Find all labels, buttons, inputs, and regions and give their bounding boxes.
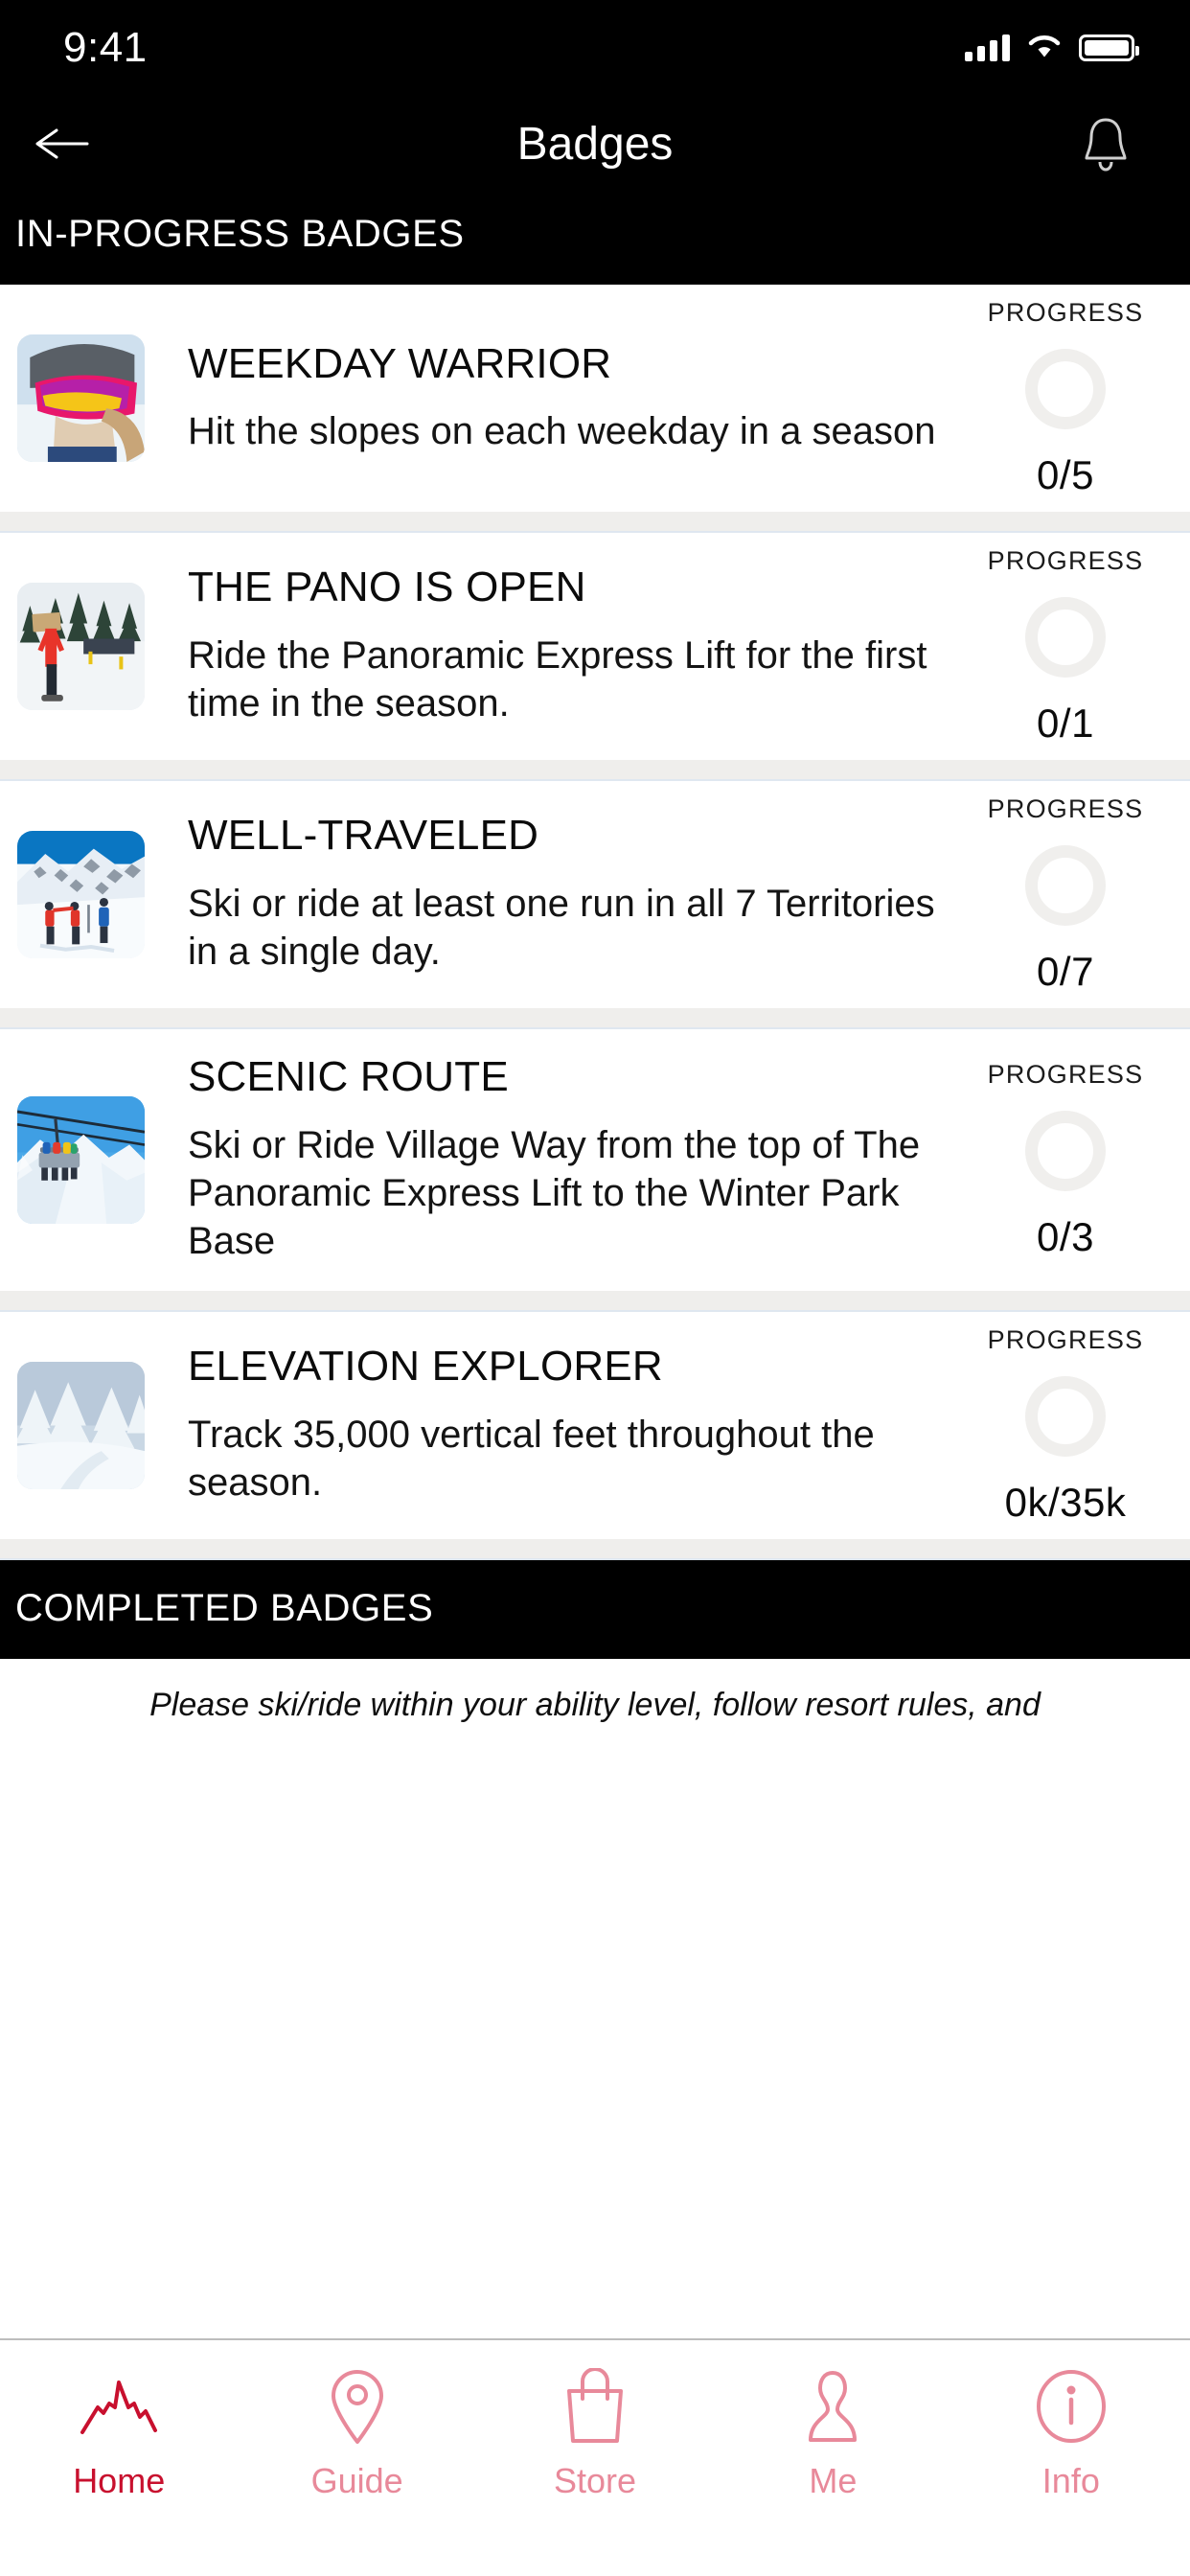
card-separator: [0, 512, 1190, 533]
badge-card[interactable]: WEEKDAY WARRIOR Hit the slopes on each w…: [0, 285, 1190, 512]
mountain-icon: [75, 2365, 163, 2448]
badge-list: WEEKDAY WARRIOR Hit the slopes on each w…: [0, 285, 1190, 1560]
battery-icon: [1079, 34, 1134, 61]
progress-label: PROGRESS: [988, 1060, 1144, 1090]
tab-label: Info: [1042, 2461, 1100, 2501]
navigation-bar: Badges: [0, 96, 1190, 192]
page-title: Badges: [0, 118, 1190, 171]
arrow-left-icon: [32, 121, 93, 167]
card-separator: [0, 1539, 1190, 1560]
status-indicators: [965, 33, 1134, 64]
progress-ring: [1025, 349, 1106, 429]
section-header-completed: COMPLETED BADGES: [0, 1560, 1190, 1659]
badge-text: WELL-TRAVELED Ski or ride at least one r…: [171, 781, 949, 1008]
badge-description: Hit the slopes on each weekday in a seas…: [188, 407, 937, 455]
badge-progress: PROGRESS 0/7: [949, 781, 1190, 1008]
chairlift-photo: [17, 1096, 145, 1224]
status-bar: 9:41: [0, 0, 1190, 96]
card-separator: [0, 1291, 1190, 1312]
tab-label: Home: [73, 2461, 165, 2501]
tab-me[interactable]: Me: [714, 2365, 951, 2501]
tab-info[interactable]: Info: [952, 2365, 1190, 2501]
badge-card[interactable]: THE PANO IS OPEN Ride the Panoramic Expr…: [0, 533, 1190, 760]
badge-card[interactable]: SCENIC ROUTE Ski or Ride Village Way fro…: [0, 1029, 1190, 1291]
disclaimer-text: Please ski/ride within your ability leve…: [0, 1659, 1190, 1726]
badge-description: Ski or Ride Village Way from the top of …: [188, 1121, 937, 1266]
tab-label: Guide: [311, 2461, 403, 2501]
status-time: 9:41: [63, 24, 148, 72]
tab-store[interactable]: Store: [476, 2365, 714, 2501]
badge-thumbnail-wrap: [17, 1029, 171, 1291]
bell-icon: [1079, 114, 1133, 173]
notifications-button[interactable]: [1067, 105, 1144, 182]
app-screen: 9:41 Badges IN-PROGRESS: [0, 0, 1190, 2576]
person-icon: [789, 2365, 877, 2448]
back-button[interactable]: [19, 101, 105, 187]
badge-title: ELEVATION EXPLORER: [188, 1344, 937, 1390]
badge-progress: PROGRESS 0/5: [949, 285, 1190, 512]
skier-goggles-photo: [17, 334, 145, 462]
card-separator: [0, 1008, 1190, 1029]
progress-label: PROGRESS: [988, 546, 1144, 576]
badge-thumbnail-wrap: [17, 1312, 171, 1539]
progress-ring: [1025, 845, 1106, 926]
wifi-icon: [1027, 33, 1062, 64]
badge-title: THE PANO IS OPEN: [188, 564, 937, 610]
badge-text: THE PANO IS OPEN Ride the Panoramic Expr…: [171, 533, 949, 760]
badge-thumbnail-wrap: [17, 285, 171, 512]
badge-description: Track 35,000 vertical feet throughout th…: [188, 1411, 937, 1507]
badge-title: SCENIC ROUTE: [188, 1054, 937, 1100]
progress-value: 0/3: [1037, 1214, 1094, 1260]
badge-progress: PROGRESS 0/3: [949, 1029, 1190, 1291]
progress-label: PROGRESS: [988, 298, 1144, 328]
badge-description: Ride the Panoramic Express Lift for the …: [188, 632, 937, 728]
progress-value: 0/7: [1037, 949, 1094, 995]
skier-sign-photo: [17, 583, 145, 710]
badge-progress: PROGRESS 0k/35k: [949, 1312, 1190, 1539]
progress-label: PROGRESS: [988, 794, 1144, 824]
map-pin-icon: [313, 2365, 401, 2448]
badge-text: SCENIC ROUTE Ski or Ride Village Way fro…: [171, 1029, 949, 1291]
card-separator: [0, 760, 1190, 781]
badge-text: WEEKDAY WARRIOR Hit the slopes on each w…: [171, 285, 949, 512]
progress-label: PROGRESS: [988, 1325, 1144, 1355]
info-circle-icon: [1027, 2365, 1115, 2448]
badge-description: Ski or ride at least one run in all 7 Te…: [188, 880, 937, 977]
section-header-in-progress: IN-PROGRESS BADGES: [0, 192, 1190, 285]
bottom-tab-bar: Home Guide Store: [0, 2338, 1190, 2576]
progress-ring: [1025, 1111, 1106, 1191]
tab-home[interactable]: Home: [0, 2365, 238, 2501]
shopping-bag-icon: [551, 2365, 639, 2448]
badge-title: WELL-TRAVELED: [188, 813, 937, 859]
badge-progress: PROGRESS 0/1: [949, 533, 1190, 760]
progress-ring: [1025, 597, 1106, 678]
progress-value: 0k/35k: [1005, 1480, 1127, 1526]
snowy-trees-photo: [17, 1362, 145, 1489]
badge-card[interactable]: WELL-TRAVELED Ski or ride at least one r…: [0, 781, 1190, 1008]
badge-thumbnail-wrap: [17, 533, 171, 760]
progress-value: 0/1: [1037, 701, 1094, 747]
badge-text: ELEVATION EXPLORER Track 35,000 vertical…: [171, 1312, 949, 1539]
progress-ring: [1025, 1376, 1106, 1457]
badge-thumbnail-wrap: [17, 781, 171, 1008]
progress-value: 0/5: [1037, 452, 1094, 498]
tab-label: Store: [554, 2461, 636, 2501]
three-skiers-ridge-photo: [17, 831, 145, 958]
tab-guide[interactable]: Guide: [238, 2365, 475, 2501]
badge-card[interactable]: ELEVATION EXPLORER Track 35,000 vertical…: [0, 1312, 1190, 1539]
badge-title: WEEKDAY WARRIOR: [188, 341, 937, 387]
cellular-signal-icon: [965, 34, 1010, 61]
tab-label: Me: [809, 2461, 857, 2501]
